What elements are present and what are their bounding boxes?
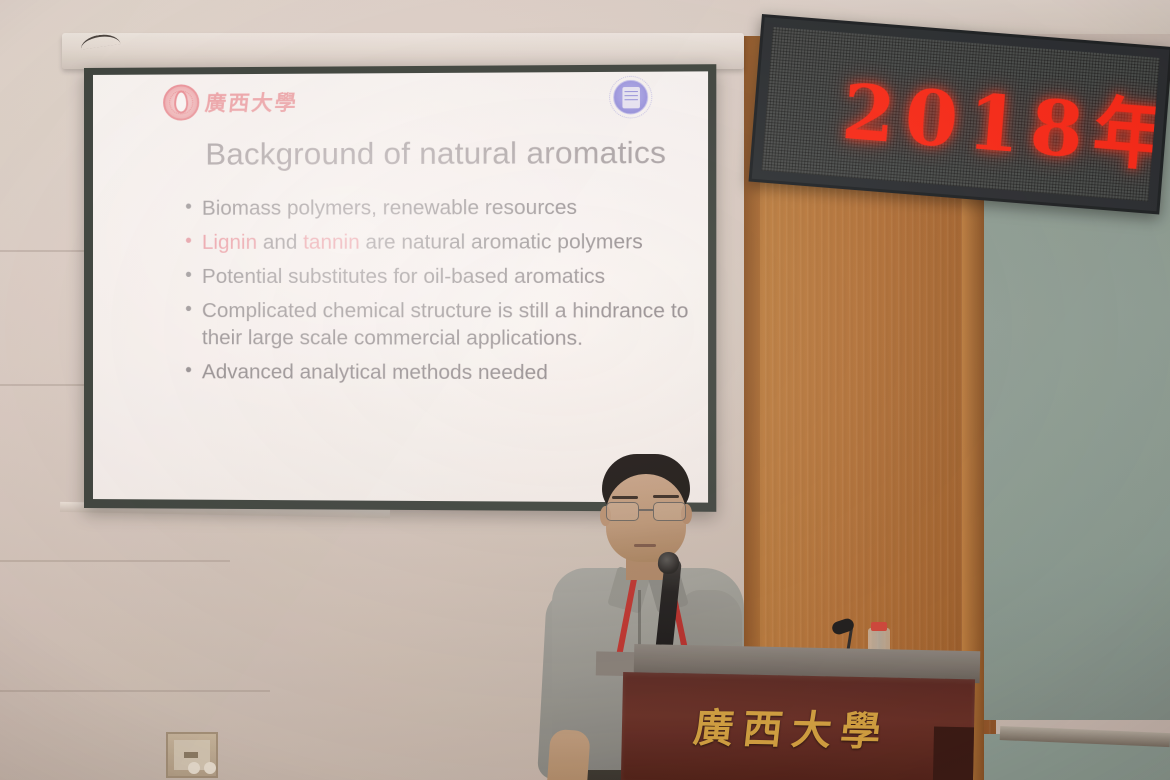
slide-bullet-list: •Biomass polymers, renewable resources•L… (185, 193, 694, 393)
bullet-segment: Advanced analytical methods needed (202, 360, 548, 384)
bullet-segment: are natural aromatic polymers (360, 230, 643, 254)
podium-notch (933, 727, 974, 780)
bullet-segment: Biomass polymers, renewable resources (202, 196, 577, 220)
projection-screen-roller (62, 33, 744, 69)
slide-bullet: •Potential substitutes for oil-based aro… (185, 263, 694, 290)
led-sign-text: 2018年 (839, 50, 1160, 187)
bullet-dot-icon: • (185, 263, 192, 289)
bullet-segment: Complicated chemical structure is still … (202, 299, 689, 350)
bottle-cap (871, 622, 887, 631)
glasses-bridge (639, 509, 653, 511)
bullet-dot-icon: • (185, 358, 192, 384)
bullet-highlight-word: tannin (303, 231, 360, 254)
eyeglasses (604, 502, 690, 522)
wall-seam (0, 560, 230, 562)
podium: 廣西大學 (621, 672, 975, 780)
slide-bullet: •Advanced analytical methods needed (185, 358, 694, 386)
lens-left (606, 502, 639, 521)
seal-icon (163, 84, 199, 120)
slide-bullet: •Complicated chemical structure is still… (185, 297, 694, 352)
bullet-text: Potential substitutes for oil-based arom… (202, 263, 605, 290)
bullet-text: Complicated chemical structure is still … (202, 297, 695, 352)
gxu-seal-logo: 廣西大學 (163, 84, 298, 121)
podium-inscription: 廣西大學 (691, 696, 893, 758)
speaker-shirt-placket (638, 590, 641, 648)
bullet-dot-icon: • (185, 297, 192, 323)
bullet-text: Lignin and tannin are natural aromatic p… (202, 228, 643, 256)
projection-screen-surface: 廣西大學 Background of natural aromatics •Bi… (93, 71, 708, 502)
roller-cable (79, 32, 120, 49)
bullet-segment: and (257, 231, 303, 254)
bullet-highlight-word: Lignin (202, 231, 257, 254)
presentation-slide: 廣西大學 Background of natural aromatics •Bi… (93, 71, 708, 502)
led-panel: 2018年 (761, 27, 1159, 202)
speaker-eyebrow-right (653, 495, 679, 498)
institute-blue-logo (613, 80, 648, 115)
logo-book-icon (622, 86, 640, 107)
outlet-sockets (188, 762, 200, 774)
outlet-faceplate (174, 740, 210, 770)
bullet-dot-icon: • (185, 195, 192, 221)
bullet-text: Advanced analytical methods needed (202, 358, 548, 386)
speaker-forearm (545, 729, 590, 780)
led-scrolling-sign: 2018年 (749, 14, 1170, 215)
bullet-text: Biomass polymers, renewable resources (202, 194, 577, 222)
lens-right (653, 502, 686, 521)
speaker-eyebrow-left (612, 496, 638, 499)
slide-bullet: •Lignin and tannin are natural aromatic … (185, 228, 694, 256)
speaker-mouth (634, 544, 656, 547)
gxu-logo-text: 廣西大學 (204, 87, 300, 118)
slide-bullet: •Biomass polymers, renewable resources (185, 193, 694, 221)
outlet-switch[interactable] (184, 752, 198, 758)
bullet-segment: Potential substitutes for oil-based arom… (202, 265, 605, 288)
wall-seam (0, 690, 270, 692)
slide-title: Background of natural aromatics (205, 135, 666, 173)
bullet-dot-icon: • (185, 229, 192, 255)
lecture-hall-photo: 廣西大學 Background of natural aromatics •Bi… (0, 0, 1170, 780)
wall-outlet[interactable] (166, 732, 218, 778)
